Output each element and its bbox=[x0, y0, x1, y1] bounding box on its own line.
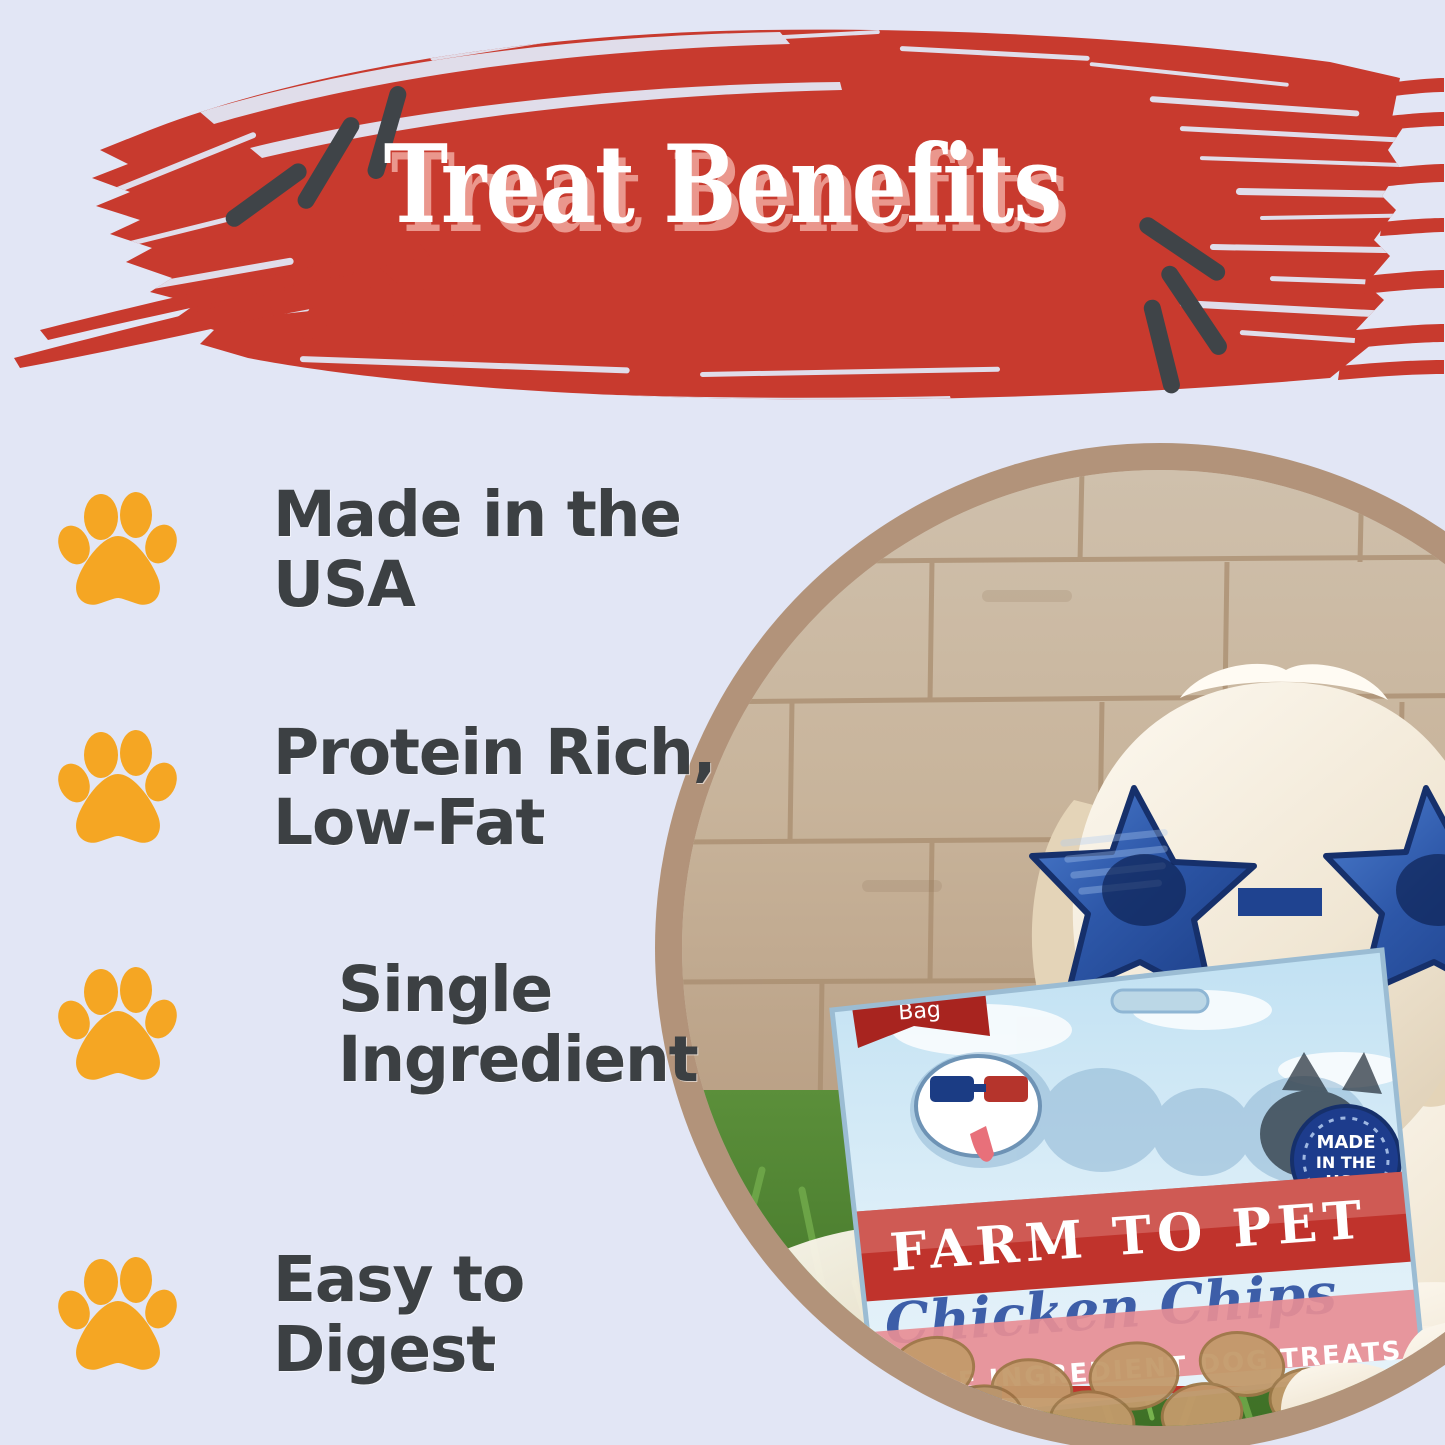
badge-line-2: IN THE bbox=[1316, 1153, 1376, 1172]
photo-illustration: MADE IN THE USA FARM TO PET Chicken Chip… bbox=[682, 470, 1445, 1426]
benefit-label: Made in the USA bbox=[273, 480, 760, 620]
paw-print-icon bbox=[58, 1255, 178, 1375]
infographic-canvas: Treat Benefits bbox=[0, 0, 1445, 1445]
benefit-item-protein-rich: Protein Rich, Low-Fat bbox=[58, 718, 715, 858]
paw-print-icon bbox=[58, 490, 178, 610]
benefits-list: Made in the USA Protein Rich, Low-Fat bbox=[0, 0, 760, 1445]
paw-print-icon bbox=[58, 965, 178, 1085]
benefit-item-easy-to-digest: Easy to Digest bbox=[58, 1245, 760, 1385]
paw-print-icon bbox=[58, 728, 178, 848]
benefit-item-single-ingredient: Single Ingredient bbox=[58, 955, 698, 1095]
badge-line-1: MADE bbox=[1316, 1132, 1375, 1153]
product-photo: MADE IN THE USA FARM TO PET Chicken Chip… bbox=[682, 470, 1445, 1426]
benefit-label: Easy to Digest bbox=[273, 1245, 760, 1385]
benefit-item-made-in-usa: Made in the USA bbox=[58, 480, 760, 620]
benefit-label: Single Ingredient bbox=[338, 955, 698, 1095]
benefit-label: Protein Rich, Low-Fat bbox=[273, 718, 715, 858]
